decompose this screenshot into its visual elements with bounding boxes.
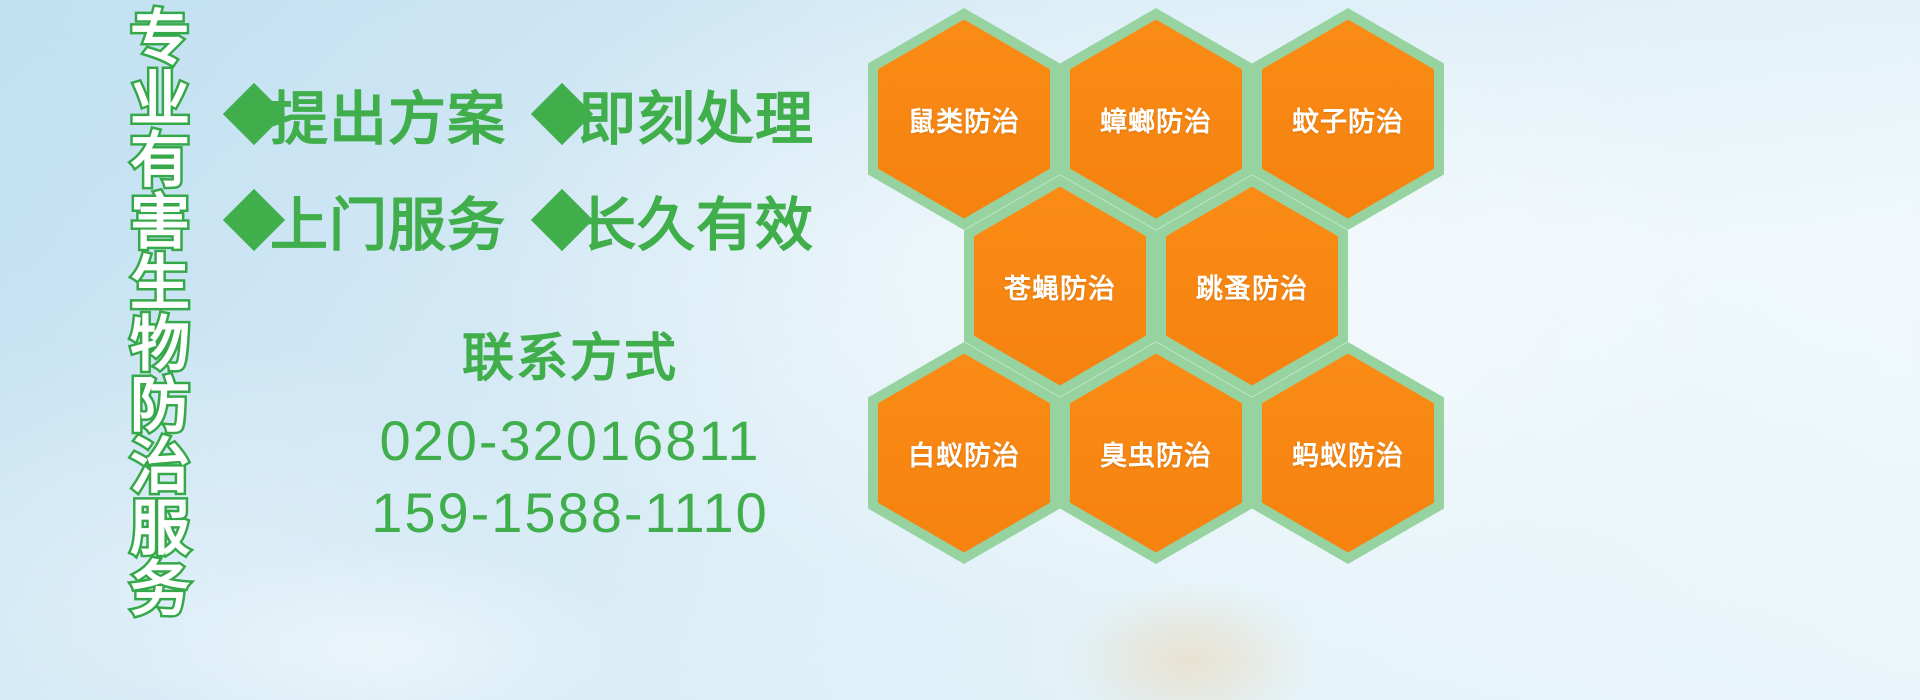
vertical-slogan-char: 物 <box>130 314 190 375</box>
service-label: 蟑螂防治 <box>1100 100 1212 139</box>
hex-inner: 白蚁防治 <box>878 354 1050 553</box>
feature-item-door-to-door-service: 上门服务 <box>232 178 540 262</box>
service-label: 蚂蚁防治 <box>1292 434 1404 473</box>
vertical-slogan-char: 防 <box>130 375 190 436</box>
hex-inner: 跳蚤防治 <box>1166 187 1338 386</box>
hex-inner: 蚊子防治 <box>1262 20 1434 219</box>
service-honeycomb: 鼠类防治 蟑螂防治 蚊子防治 苍蝇防治 跳蚤防治 白蚁防治 臭虫防治 蚂蚁防治 <box>862 8 1462 568</box>
vertical-slogan-char: 专 <box>130 8 190 69</box>
feature-item-long-lasting-effect: 长久有效 <box>540 178 814 262</box>
vertical-slogan-char: 治 <box>130 436 190 497</box>
feature-row: 提出方案 即刻处理 <box>232 72 814 156</box>
hex-inner: 蟑螂防治 <box>1070 20 1242 219</box>
vertical-slogan-char: 害 <box>130 192 190 253</box>
service-label: 蚊子防治 <box>1292 100 1404 139</box>
feature-label: 即刻处理 <box>578 72 814 156</box>
vertical-slogan-char: 务 <box>130 559 190 620</box>
feature-item-immediate-handling: 即刻处理 <box>540 72 814 156</box>
hex-inner: 蚂蚁防治 <box>1262 354 1434 553</box>
feature-label: 上门服务 <box>270 178 506 262</box>
contact-phone-mobile[interactable]: 159-1588-1110 <box>300 477 840 549</box>
feature-label: 提出方案 <box>270 72 506 156</box>
vertical-slogan-char: 生 <box>130 253 190 314</box>
vertical-slogan-char: 有 <box>130 130 190 191</box>
service-label: 鼠类防治 <box>908 100 1020 139</box>
feature-list: 提出方案 即刻处理 上门服务 长久有效 <box>232 72 814 284</box>
feature-label: 长久有效 <box>578 178 814 262</box>
service-label: 跳蚤防治 <box>1196 267 1308 306</box>
contact-title: 联系方式 <box>300 316 840 391</box>
feature-row: 上门服务 长久有效 <box>232 178 814 262</box>
background-highlight-right <box>1060 580 1320 700</box>
vertical-slogan: 专 业 有 害 生 物 防 治 服 务 <box>108 8 212 620</box>
service-label: 臭虫防治 <box>1100 434 1212 473</box>
contact-block: 联系方式 020-32016811 159-1588-1110 <box>300 316 840 548</box>
vertical-slogan-char: 业 <box>130 69 190 130</box>
service-label: 苍蝇防治 <box>1004 267 1116 306</box>
feature-item-propose-plan: 提出方案 <box>232 72 540 156</box>
vertical-slogan-char: 服 <box>130 498 190 559</box>
service-label: 白蚁防治 <box>908 434 1020 473</box>
hex-inner: 臭虫防治 <box>1070 354 1242 553</box>
hex-inner: 鼠类防治 <box>878 20 1050 219</box>
contact-phone-landline[interactable]: 020-32016811 <box>300 405 840 477</box>
hex-inner: 苍蝇防治 <box>974 187 1146 386</box>
